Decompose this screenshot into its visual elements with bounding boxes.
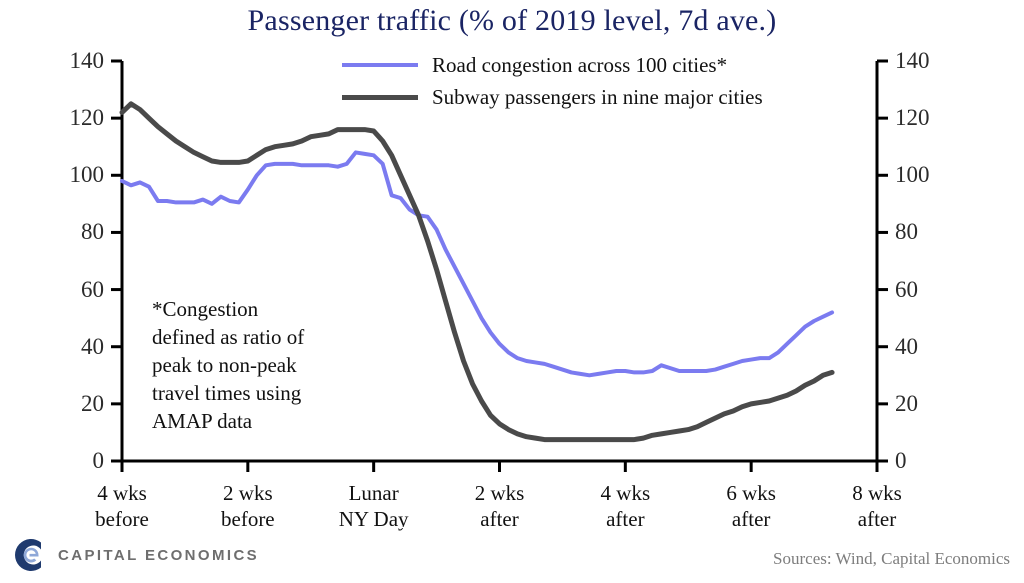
x-axis-tick-label: 4 wksafter — [560, 481, 690, 532]
y-axis-right-tick-label: 40 — [895, 335, 953, 358]
congestion-footnote: *Congestiondefined as ratio ofpeak to no… — [152, 296, 382, 436]
x-axis-tick-label-line1: 8 wks — [812, 481, 942, 507]
y-axis-left-tick-label: 120 — [46, 106, 104, 129]
x-axis-tick-label-line1: 2 wks — [183, 481, 313, 507]
y-axis-left-tick-label: 40 — [46, 335, 104, 358]
x-axis-tick-label: 6 wksafter — [686, 481, 816, 532]
x-axis-tick-label: 4 wksbefore — [57, 481, 187, 532]
footnote-line: *Congestion — [152, 296, 382, 324]
y-axis-right-tick-label: 140 — [895, 49, 953, 72]
footnote-line: peak to non-peak — [152, 352, 382, 380]
footnote-line: defined as ratio of — [152, 324, 382, 352]
logo-c-icon — [8, 535, 48, 575]
y-axis-right-tick-label: 100 — [895, 163, 953, 186]
footnote-line: travel times using — [152, 380, 382, 408]
x-axis-tick-label-line1: 6 wks — [686, 481, 816, 507]
y-axis-left-tick-label: 60 — [46, 278, 104, 301]
x-axis-tick-label-line1: 4 wks — [560, 481, 690, 507]
y-axis-right-tick-label: 20 — [895, 392, 953, 415]
footnote-line: AMAP data — [152, 408, 382, 436]
y-axis-right-tick-label: 80 — [895, 220, 953, 243]
x-axis-tick-label: 8 wksafter — [812, 481, 942, 532]
y-axis-right-tick-label: 60 — [895, 278, 953, 301]
y-axis-left-tick-label: 80 — [46, 220, 104, 243]
x-axis-tick-label: LunarNY Day — [309, 481, 439, 532]
y-axis-left-tick-label: 20 — [46, 392, 104, 415]
sources-note: Sources: Wind, Capital Economics — [773, 549, 1010, 569]
y-axis-left-tick-label: 100 — [46, 163, 104, 186]
capital-economics-logo: CAPITAL ECONOMICS — [8, 535, 259, 575]
x-axis-tick-label-line1: Lunar — [309, 481, 439, 507]
footer-divider — [0, 527, 1024, 528]
y-axis-left-tick-label: 0 — [46, 449, 104, 472]
x-axis-tick-label: 2 wksafter — [435, 481, 565, 532]
y-axis-left-tick-label: 140 — [46, 49, 104, 72]
x-axis-tick-label-line1: 2 wks — [435, 481, 565, 507]
y-axis-right-tick-label: 120 — [895, 106, 953, 129]
brand-name: CAPITAL ECONOMICS — [58, 547, 259, 564]
x-axis-tick-label: 2 wksbefore — [183, 481, 313, 532]
x-axis-tick-label-line1: 4 wks — [57, 481, 187, 507]
y-axis-right-tick-label: 0 — [895, 449, 953, 472]
chart-footer: CAPITAL ECONOMICS Sources: Wind, Capital… — [0, 527, 1024, 583]
chart-figure: Passenger traffic (% of 2019 level, 7d a… — [0, 0, 1024, 583]
